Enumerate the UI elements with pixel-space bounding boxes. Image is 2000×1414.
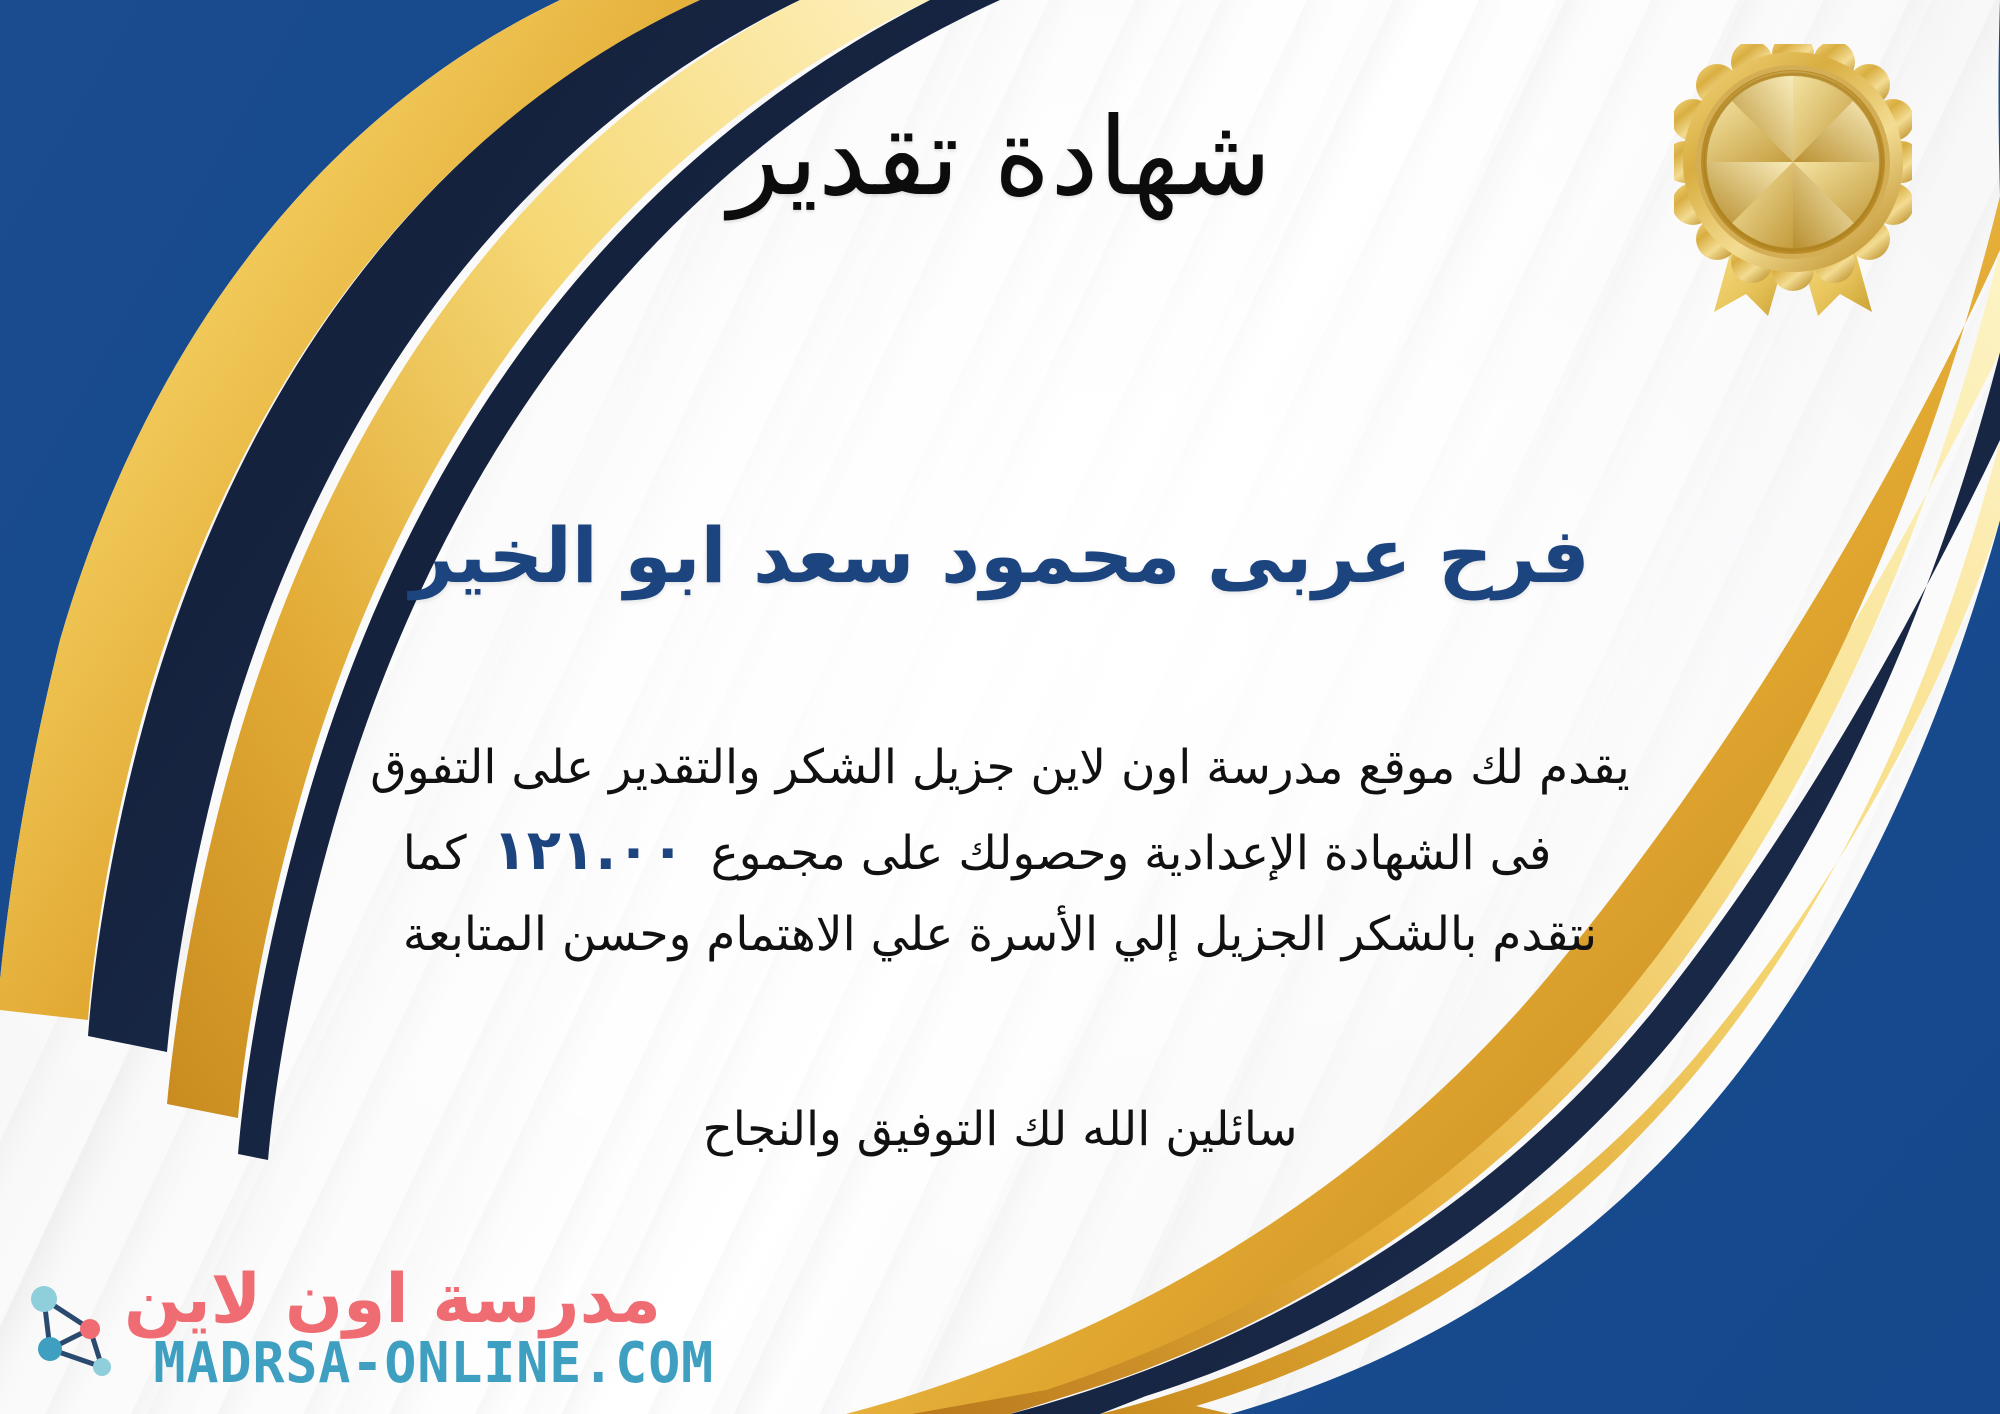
body-line-3: نتقدم بالشكر الجزيل إلي الأسرة علي الاهت… (60, 897, 1940, 973)
brand-logo-text: مدرسة اون لاين MADRSA-ONLINE.COM (124, 1266, 714, 1392)
body-line-1: يقدم لك موقع مدرسة اون لاين جزيل الشكر و… (60, 730, 1940, 806)
brand-website: MADRSA-ONLINE.COM (154, 1336, 715, 1392)
network-nodes-icon (24, 1277, 120, 1381)
recipient-name: فرح عربى محمود سعد ابو الخير (0, 510, 2000, 601)
brand-logo[interactable]: مدرسة اون لاين MADRSA-ONLINE.COM (24, 1266, 714, 1392)
body-line-2-suffix: كما (403, 826, 467, 881)
brand-arabic-name: مدرسة اون لاين (124, 1266, 661, 1334)
body-line-2-text: فى الشهادة الإعدادية وحصولك على مجموع (711, 816, 1598, 892)
body-line-2: فى الشهادة الإعدادية وحصولك على مجموع١٢١… (60, 806, 1940, 897)
gold-award-rosette-icon (1674, 44, 1912, 316)
total-score-value: ١٢١.٠٠ (467, 806, 711, 897)
certificate-content: شهادة تقدير (0, 0, 2000, 1414)
certificate-page: شهادة تقدير (0, 0, 2000, 1414)
certificate-body: يقدم لك موقع مدرسة اون لاين جزيل الشكر و… (60, 730, 1940, 973)
closing-wishes: سائلين الله لك التوفيق والنجاح (0, 1095, 2000, 1166)
